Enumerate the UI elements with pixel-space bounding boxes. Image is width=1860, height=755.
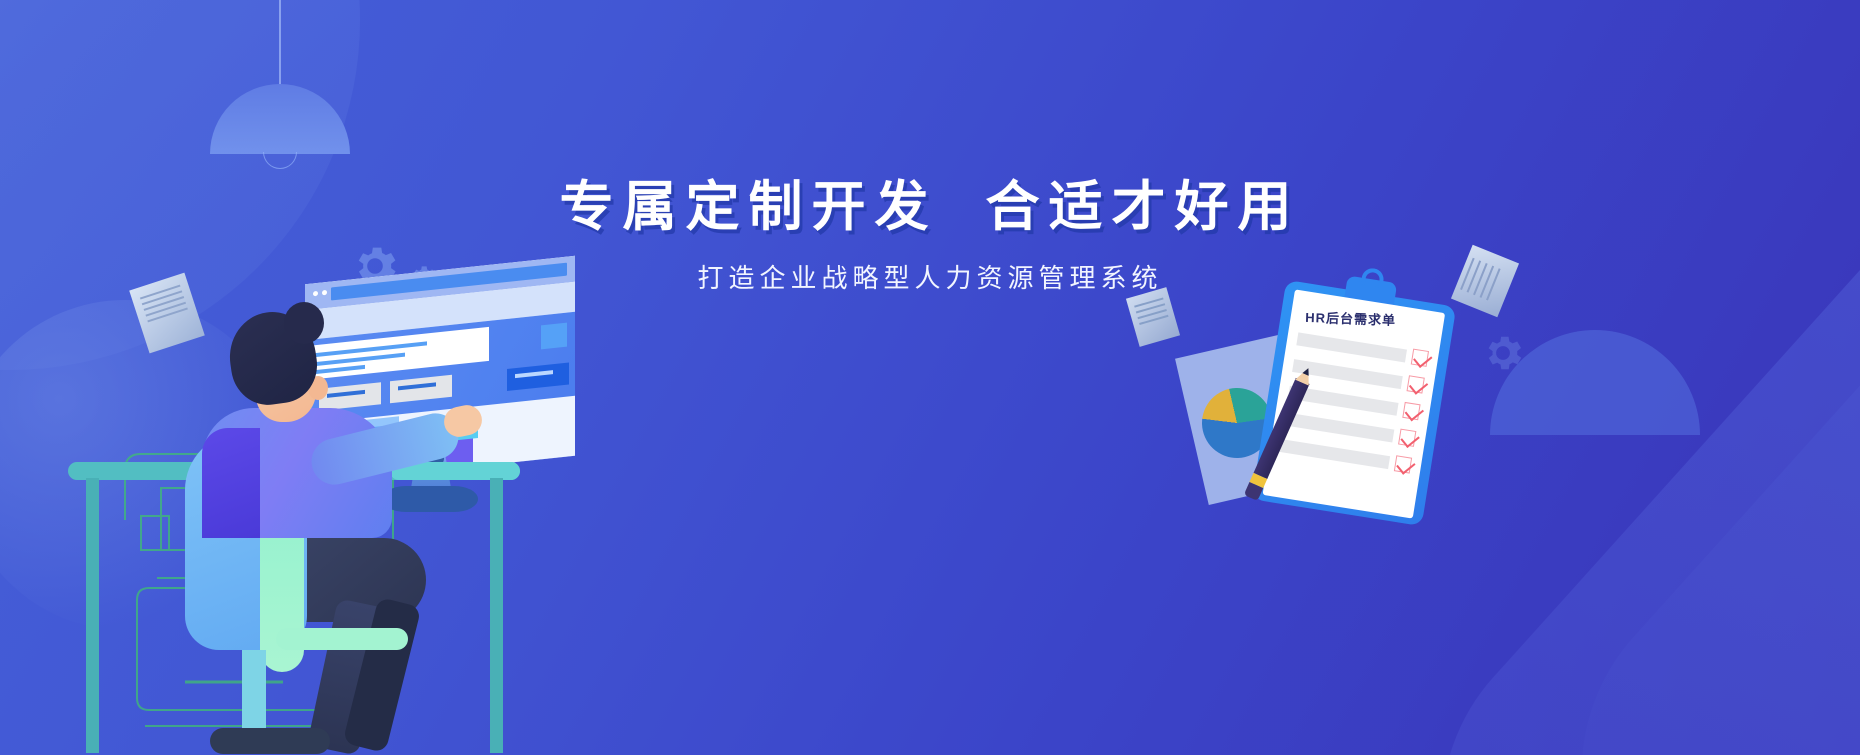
check-icon xyxy=(1411,349,1429,367)
clipboard-title: HR后台需求单 xyxy=(1305,307,1396,329)
pendant-lamp-icon xyxy=(210,0,350,170)
person-torso-shadow xyxy=(202,428,260,538)
office-chair-stem xyxy=(242,650,266,738)
monitor-stand-base xyxy=(382,486,478,512)
check-icon xyxy=(1394,455,1412,473)
person-hair-tuft xyxy=(284,302,324,344)
checklist xyxy=(1278,330,1429,484)
content-thumbnail xyxy=(541,323,567,350)
developer-at-desk-illustration xyxy=(60,250,580,755)
check-icon xyxy=(1407,375,1425,393)
banner-headline: 专属定制开发 合适才好用 xyxy=(0,176,1860,240)
check-icon xyxy=(1398,429,1416,447)
lamp-cord xyxy=(279,0,281,86)
gear-icon xyxy=(1480,330,1526,376)
lamp-bulb xyxy=(263,152,297,169)
floating-document-icon xyxy=(129,273,205,354)
desk-leg-right xyxy=(490,478,503,753)
hero-banner: 专属定制开发 合适才好用 打造企业战略型人力资源管理系统 xyxy=(0,0,1860,755)
check-icon xyxy=(1402,402,1420,420)
lamp-shade xyxy=(210,84,350,154)
hr-requirements-illustration: HR后台需求单 xyxy=(1160,270,1580,630)
office-chair-armrest xyxy=(276,628,408,650)
clipboard: HR后台需求单 xyxy=(1252,280,1457,526)
checklist-bar xyxy=(1284,412,1395,442)
checklist-bar xyxy=(1296,332,1407,362)
desk-leg-left xyxy=(86,478,99,753)
checklist-bar xyxy=(1280,439,1391,469)
office-chair-base xyxy=(210,728,330,754)
